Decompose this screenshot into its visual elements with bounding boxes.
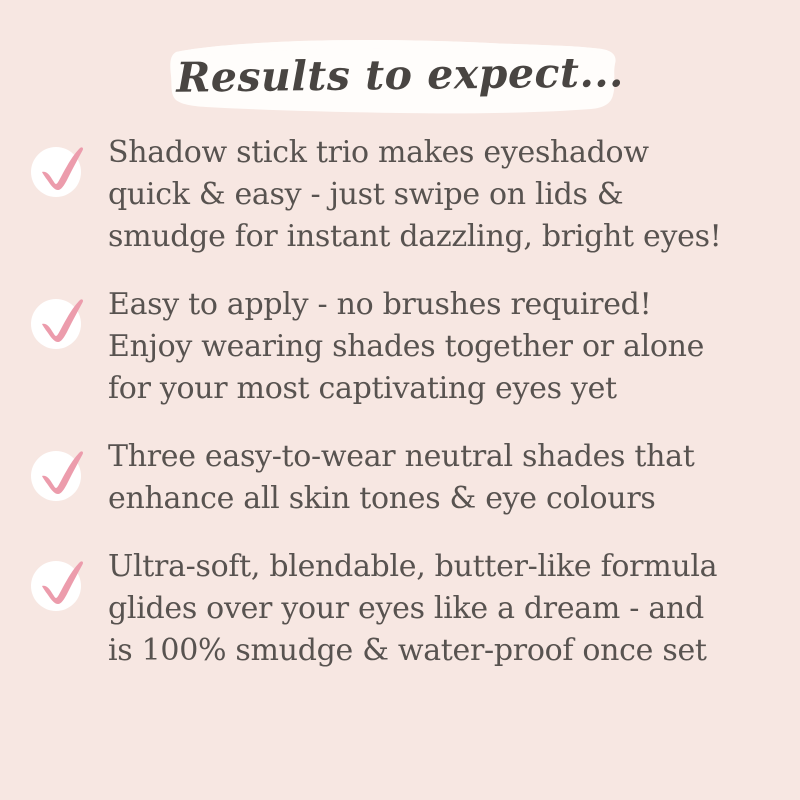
title-banner: Results to expect... bbox=[0, 30, 800, 120]
list-item-label: Shadow stick trio makes eyeshadow quick … bbox=[108, 132, 800, 258]
check-circle-icon bbox=[30, 554, 90, 614]
list-item-label: Three easy-to-wear neutral shades that e… bbox=[108, 436, 800, 520]
check-circle-icon bbox=[30, 292, 90, 352]
list-item: Ultra-soft, blendable, butter-like formu… bbox=[0, 546, 800, 672]
list-item-label: Easy to apply - no brushes required! Enj… bbox=[108, 284, 800, 410]
list-item: Shadow stick trio makes eyeshadow quick … bbox=[0, 132, 800, 258]
list-item: Three easy-to-wear neutral shades that e… bbox=[0, 436, 800, 520]
list-item: Easy to apply - no brushes required! Enj… bbox=[0, 284, 800, 410]
check-circle-icon bbox=[30, 140, 90, 200]
check-circle-icon bbox=[30, 444, 90, 504]
list-item-label: Ultra-soft, blendable, butter-like formu… bbox=[108, 546, 800, 672]
benefits-list: Shadow stick trio makes eyeshadow quick … bbox=[0, 132, 800, 672]
promo-card: Results to expect... Shadow stick trio m… bbox=[0, 0, 800, 800]
page-title: Results to expect... bbox=[0, 25, 800, 125]
